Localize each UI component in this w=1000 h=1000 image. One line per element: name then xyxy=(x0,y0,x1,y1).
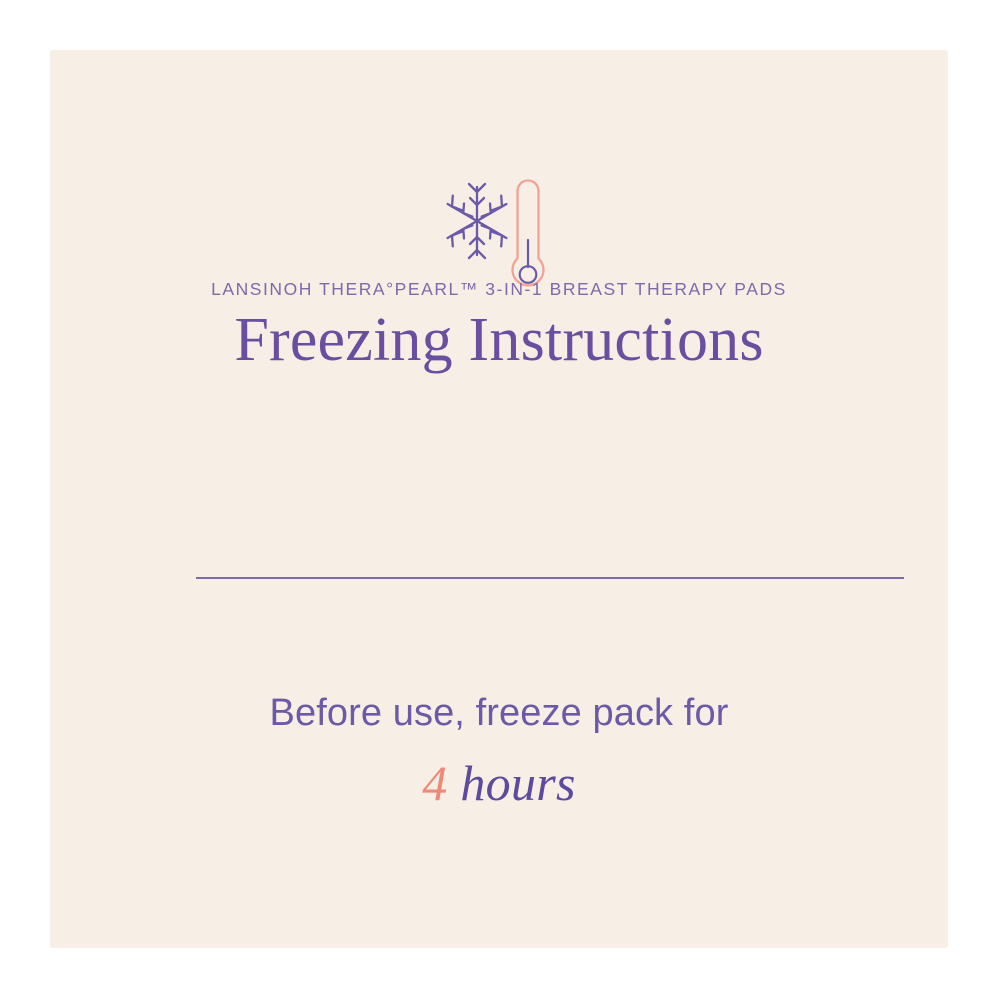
thermometer-icon xyxy=(513,181,544,286)
instruction-block: Before use, freeze pack for 4 hours xyxy=(50,690,948,814)
section-divider xyxy=(196,577,904,579)
snowflake-icon xyxy=(448,184,507,258)
instruction-text: Before use, freeze pack for xyxy=(50,690,948,738)
duration-unit: hours xyxy=(460,755,575,811)
instruction-card: LANSINOH THERA°PEARL™ 3-IN-1 BREAST THER… xyxy=(50,50,948,948)
product-eyebrow: LANSINOH THERA°PEARL™ 3-IN-1 BREAST THER… xyxy=(50,280,948,299)
page-canvas: LANSINOH THERA°PEARL™ 3-IN-1 BREAST THER… xyxy=(0,0,1000,1000)
header-block: LANSINOH THERA°PEARL™ 3-IN-1 BREAST THER… xyxy=(50,280,948,374)
thermometer-mercury-icon xyxy=(520,240,537,283)
duration-text: 4 hours xyxy=(50,752,948,815)
page-title: Freezing Instructions xyxy=(50,307,948,374)
duration-number: 4 xyxy=(422,755,447,811)
